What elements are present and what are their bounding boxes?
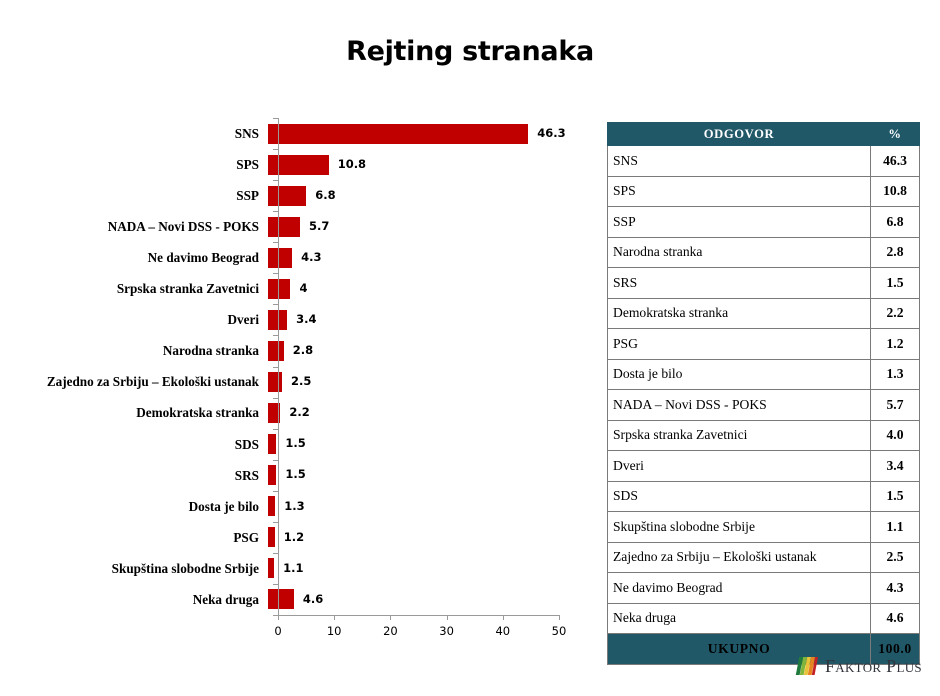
table-cell-name: Demokratska stranka: [608, 298, 871, 329]
bar-row: Narodna stranka2.8: [0, 335, 586, 366]
bar-category-label: Srpska stranka Zavetnici: [0, 282, 268, 295]
table-cell-percent: 1.5: [871, 481, 920, 512]
bar-row: SNS46.3: [0, 118, 586, 149]
y-axis-tick: [273, 304, 278, 305]
bar-holder: 4.3: [268, 242, 586, 273]
table-row: Dosta je bilo1.3: [608, 359, 920, 390]
table-row: SRS1.5: [608, 268, 920, 299]
table-row: SPS10.8: [608, 176, 920, 207]
table-row: SDS1.5: [608, 481, 920, 512]
bar-chart: SNS46.3SPS10.8SSP6.8NADA – Novi DSS - PO…: [0, 118, 586, 638]
table-cell-name: Ne davimo Beograd: [608, 573, 871, 604]
table-header-percent: %: [871, 123, 920, 146]
bar-row: Dveri3.4: [0, 304, 586, 335]
bar-row: SRS1.5: [0, 460, 586, 491]
bar-category-label: Demokratska stranka: [0, 406, 268, 419]
bar-row: SDS1.5: [0, 429, 586, 460]
bar-value-label: 2.8: [293, 345, 313, 357]
table-cell-percent: 2.8: [871, 237, 920, 268]
table-row: PSG1.2: [608, 329, 920, 360]
logo-text: Faktor Plus: [825, 657, 922, 675]
y-axis-tick: [273, 273, 278, 274]
table-row: Demokratska stranka2.2: [608, 298, 920, 329]
y-axis-tick: [273, 335, 278, 336]
bar-row: Demokratska stranka2.2: [0, 398, 586, 429]
bar-value-label: 2.5: [291, 376, 311, 388]
table-cell-name: NADA – Novi DSS - POKS: [608, 390, 871, 421]
bar-rect[interactable]: [268, 341, 284, 361]
bar-category-label: Skupština slobodne Srbije: [0, 562, 268, 575]
table-row: Zajedno za Srbiju – Ekološki ustanak2.5: [608, 542, 920, 573]
table-cell-percent: 5.7: [871, 390, 920, 421]
bar-value-label: 10.8: [338, 159, 366, 171]
bar-rect[interactable]: [268, 527, 275, 547]
bar-value-label: 1.3: [284, 501, 304, 513]
bar-row: Dosta je bilo1.3: [0, 491, 586, 522]
bar-value-label: 4.6: [303, 594, 323, 606]
bar-holder: 3.4: [268, 304, 586, 335]
bar-rect[interactable]: [268, 558, 274, 578]
bar-holder: 46.3: [268, 118, 586, 149]
bar-value-label: 3.4: [296, 314, 316, 326]
table-cell-percent: 1.5: [871, 268, 920, 299]
table-header-row: ODGOVOR %: [608, 123, 920, 146]
bar-holder: 1.3: [268, 491, 586, 522]
bar-category-label: NADA – Novi DSS - POKS: [0, 220, 268, 233]
bar-category-label: Dosta je bilo: [0, 500, 268, 513]
bar-holder: 5.7: [268, 211, 586, 242]
table-cell-name: SPS: [608, 176, 871, 207]
bar-row: Neka druga4.6: [0, 584, 586, 615]
table-cell-percent: 4.3: [871, 573, 920, 604]
table-cell-name: SDS: [608, 481, 871, 512]
bar-rect[interactable]: [268, 589, 294, 609]
table-header-odgovor: ODGOVOR: [608, 123, 871, 146]
bar-holder: 1.2: [268, 522, 586, 553]
faktor-plus-logo: Faktor Plus: [795, 655, 922, 677]
y-axis-tick: [273, 242, 278, 243]
bar-category-label: Ne davimo Beograd: [0, 251, 268, 264]
bar-category-label: SRS: [0, 469, 268, 482]
page-title: Rejting stranaka: [0, 36, 940, 67]
bar-row: SPS10.8: [0, 149, 586, 180]
bar-category-label: SPS: [0, 158, 268, 171]
table-cell-percent: 10.8: [871, 176, 920, 207]
x-axis-tick: [334, 615, 335, 620]
table-cell-name: Skupština slobodne Srbije: [608, 512, 871, 543]
x-axis-tick: [390, 615, 391, 620]
bar-row: Srpska stranka Zavetnici4: [0, 273, 586, 304]
y-axis-tick: [273, 367, 278, 368]
table-row: Srpska stranka Zavetnici4.0: [608, 420, 920, 451]
bar-category-label: SDS: [0, 438, 268, 451]
bar-holder: 1.5: [268, 460, 586, 491]
table-cell-name: SNS: [608, 146, 871, 177]
bar-holder: 4.6: [268, 584, 586, 615]
y-axis-tick: [273, 429, 278, 430]
table-cell-percent: 3.4: [871, 451, 920, 482]
table-row: Dveri3.4: [608, 451, 920, 482]
table-row: SSP6.8: [608, 207, 920, 238]
bar-rect[interactable]: [268, 124, 528, 144]
table-cell-name: Zajedno za Srbiju – Ekološki ustanak: [608, 542, 871, 573]
x-axis-tick-label: 40: [483, 624, 523, 638]
bar-rect[interactable]: [268, 496, 275, 516]
table-cell-percent: 1.2: [871, 329, 920, 360]
table-row: NADA – Novi DSS - POKS5.7: [608, 390, 920, 421]
bar-holder: 6.8: [268, 180, 586, 211]
bar-rect[interactable]: [268, 186, 306, 206]
bar-value-label: 1.2: [284, 532, 304, 544]
y-axis-tick: [273, 149, 278, 150]
table-cell-percent: 4.6: [871, 603, 920, 634]
table-row: Narodna stranka2.8: [608, 237, 920, 268]
bar-value-label: 1.5: [285, 469, 305, 481]
bar-category-label: SSP: [0, 189, 268, 202]
table-row: SNS46.3: [608, 146, 920, 177]
x-axis-tick: [503, 615, 504, 620]
bar-rect[interactable]: [268, 372, 282, 392]
y-axis-tick: [273, 460, 278, 461]
table-cell-percent: 4.0: [871, 420, 920, 451]
bar-holder: 2.2: [268, 398, 586, 429]
bar-value-label: 4.3: [301, 252, 321, 264]
bar-rect[interactable]: [268, 217, 300, 237]
table-row: Skupština slobodne Srbije1.1: [608, 512, 920, 543]
table-cell-name: Srpska stranka Zavetnici: [608, 420, 871, 451]
table-cell-percent: 6.8: [871, 207, 920, 238]
x-axis-tick: [559, 615, 560, 620]
bar-category-label: Zajedno za Srbiju – Ekološki ustanak: [0, 375, 268, 388]
y-axis-tick: [273, 584, 278, 585]
y-axis-tick: [273, 211, 278, 212]
bar-category-label: SNS: [0, 127, 268, 140]
bar-rect[interactable]: [268, 465, 276, 485]
bar-row: Ne davimo Beograd4.3: [0, 242, 586, 273]
table-cell-name: Neka druga: [608, 603, 871, 634]
bar-rect[interactable]: [268, 248, 292, 268]
table-row: Ne davimo Beograd4.3: [608, 573, 920, 604]
table-cell-name: Dosta je bilo: [608, 359, 871, 390]
faktor-plus-mark-icon: [795, 655, 818, 677]
bar-value-label: 6.8: [315, 190, 335, 202]
x-axis-tick: [447, 615, 448, 620]
bar-category-label: Narodna stranka: [0, 344, 268, 357]
table-cell-name: PSG: [608, 329, 871, 360]
table-cell-percent: 2.2: [871, 298, 920, 329]
bar-value-label: 5.7: [309, 221, 329, 233]
bar-rect[interactable]: [268, 434, 276, 454]
bar-value-label: 1.5: [285, 438, 305, 450]
bar-value-label: 4: [299, 283, 307, 295]
y-axis-tick: [273, 491, 278, 492]
bar-row: PSG1.2: [0, 522, 586, 553]
table-cell-name: Dveri: [608, 451, 871, 482]
bar-category-label: Dveri: [0, 313, 268, 326]
table-cell-percent: 2.5: [871, 542, 920, 573]
slide-canvas: Rejting stranaka SNS46.3SPS10.8SSP6.8NAD…: [0, 0, 940, 696]
chart-plot-area: SNS46.3SPS10.8SSP6.8NADA – Novi DSS - PO…: [0, 118, 586, 610]
x-axis-line: [278, 615, 559, 616]
x-axis-tick-label: 30: [427, 624, 467, 638]
bar-holder: 2.5: [268, 367, 586, 398]
bar-holder: 1.5: [268, 429, 586, 460]
x-axis-tick-label: 50: [539, 624, 579, 638]
table-cell-name: SSP: [608, 207, 871, 238]
y-axis-tick: [273, 398, 278, 399]
bar-holder: 2.8: [268, 335, 586, 366]
table-cell-name: SRS: [608, 268, 871, 299]
bar-row: NADA – Novi DSS - POKS5.7: [0, 211, 586, 242]
results-table: ODGOVOR % SNS46.3SPS10.8SSP6.8Narodna st…: [607, 122, 920, 665]
y-axis-tick: [273, 553, 278, 554]
bar-value-label: 46.3: [537, 128, 565, 140]
bar-rect[interactable]: [268, 279, 290, 299]
y-axis-tick: [273, 118, 278, 119]
bar-category-label: Neka druga: [0, 593, 268, 606]
y-axis-tick: [273, 180, 278, 181]
bar-row: Zajedno za Srbiju – Ekološki ustanak2.5: [0, 367, 586, 398]
table-row: Neka druga4.6: [608, 603, 920, 634]
bar-row: SSP6.8: [0, 180, 586, 211]
x-axis-tick-label: 20: [370, 624, 410, 638]
y-axis-line: [278, 118, 279, 615]
bar-holder: 1.1: [268, 553, 586, 584]
bar-holder: 10.8: [268, 149, 586, 180]
table-cell-name: Narodna stranka: [608, 237, 871, 268]
table-cell-percent: 46.3: [871, 146, 920, 177]
bar-category-label: PSG: [0, 531, 268, 544]
x-axis-tick-label: 0: [258, 624, 298, 638]
table-body: SNS46.3SPS10.8SSP6.8Narodna stranka2.8SR…: [608, 146, 920, 665]
x-axis-tick: [278, 615, 279, 620]
bar-value-label: 1.1: [283, 563, 303, 575]
bar-holder: 4: [268, 273, 586, 304]
bar-value-label: 2.2: [289, 407, 309, 419]
table-cell-percent: 1.3: [871, 359, 920, 390]
bar-row: Skupština slobodne Srbije1.1: [0, 553, 586, 584]
y-axis-tick: [273, 522, 278, 523]
table-cell-percent: 1.1: [871, 512, 920, 543]
x-axis-tick-label: 10: [314, 624, 354, 638]
